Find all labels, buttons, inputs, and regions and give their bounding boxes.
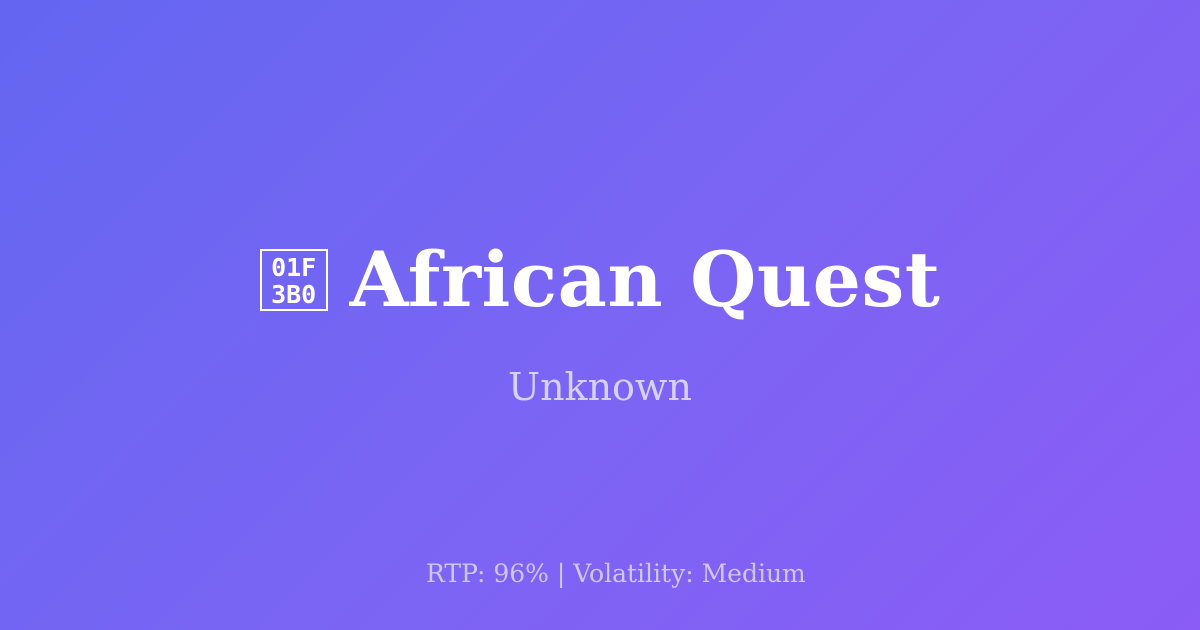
- page-title: African Quest: [350, 238, 941, 322]
- rtp-value: RTP: 96%: [426, 559, 549, 588]
- title-row: 01F 3B0 African Quest: [0, 238, 1200, 322]
- emoji-codepoint-top: 01F: [271, 254, 316, 281]
- slot-machine-emoji: 01F 3B0: [260, 249, 328, 311]
- volatility-value: Volatility: Medium: [573, 559, 805, 588]
- meta-separator: |: [549, 559, 573, 588]
- game-og-card: 01F 3B0 African Quest Unknown RTP: 96% |…: [0, 0, 1200, 630]
- game-meta-line: RTP: 96% | Volatility: Medium: [0, 526, 1200, 622]
- provider-label: Unknown: [0, 362, 1200, 412]
- emoji-codepoint-bottom: 3B0: [271, 281, 316, 308]
